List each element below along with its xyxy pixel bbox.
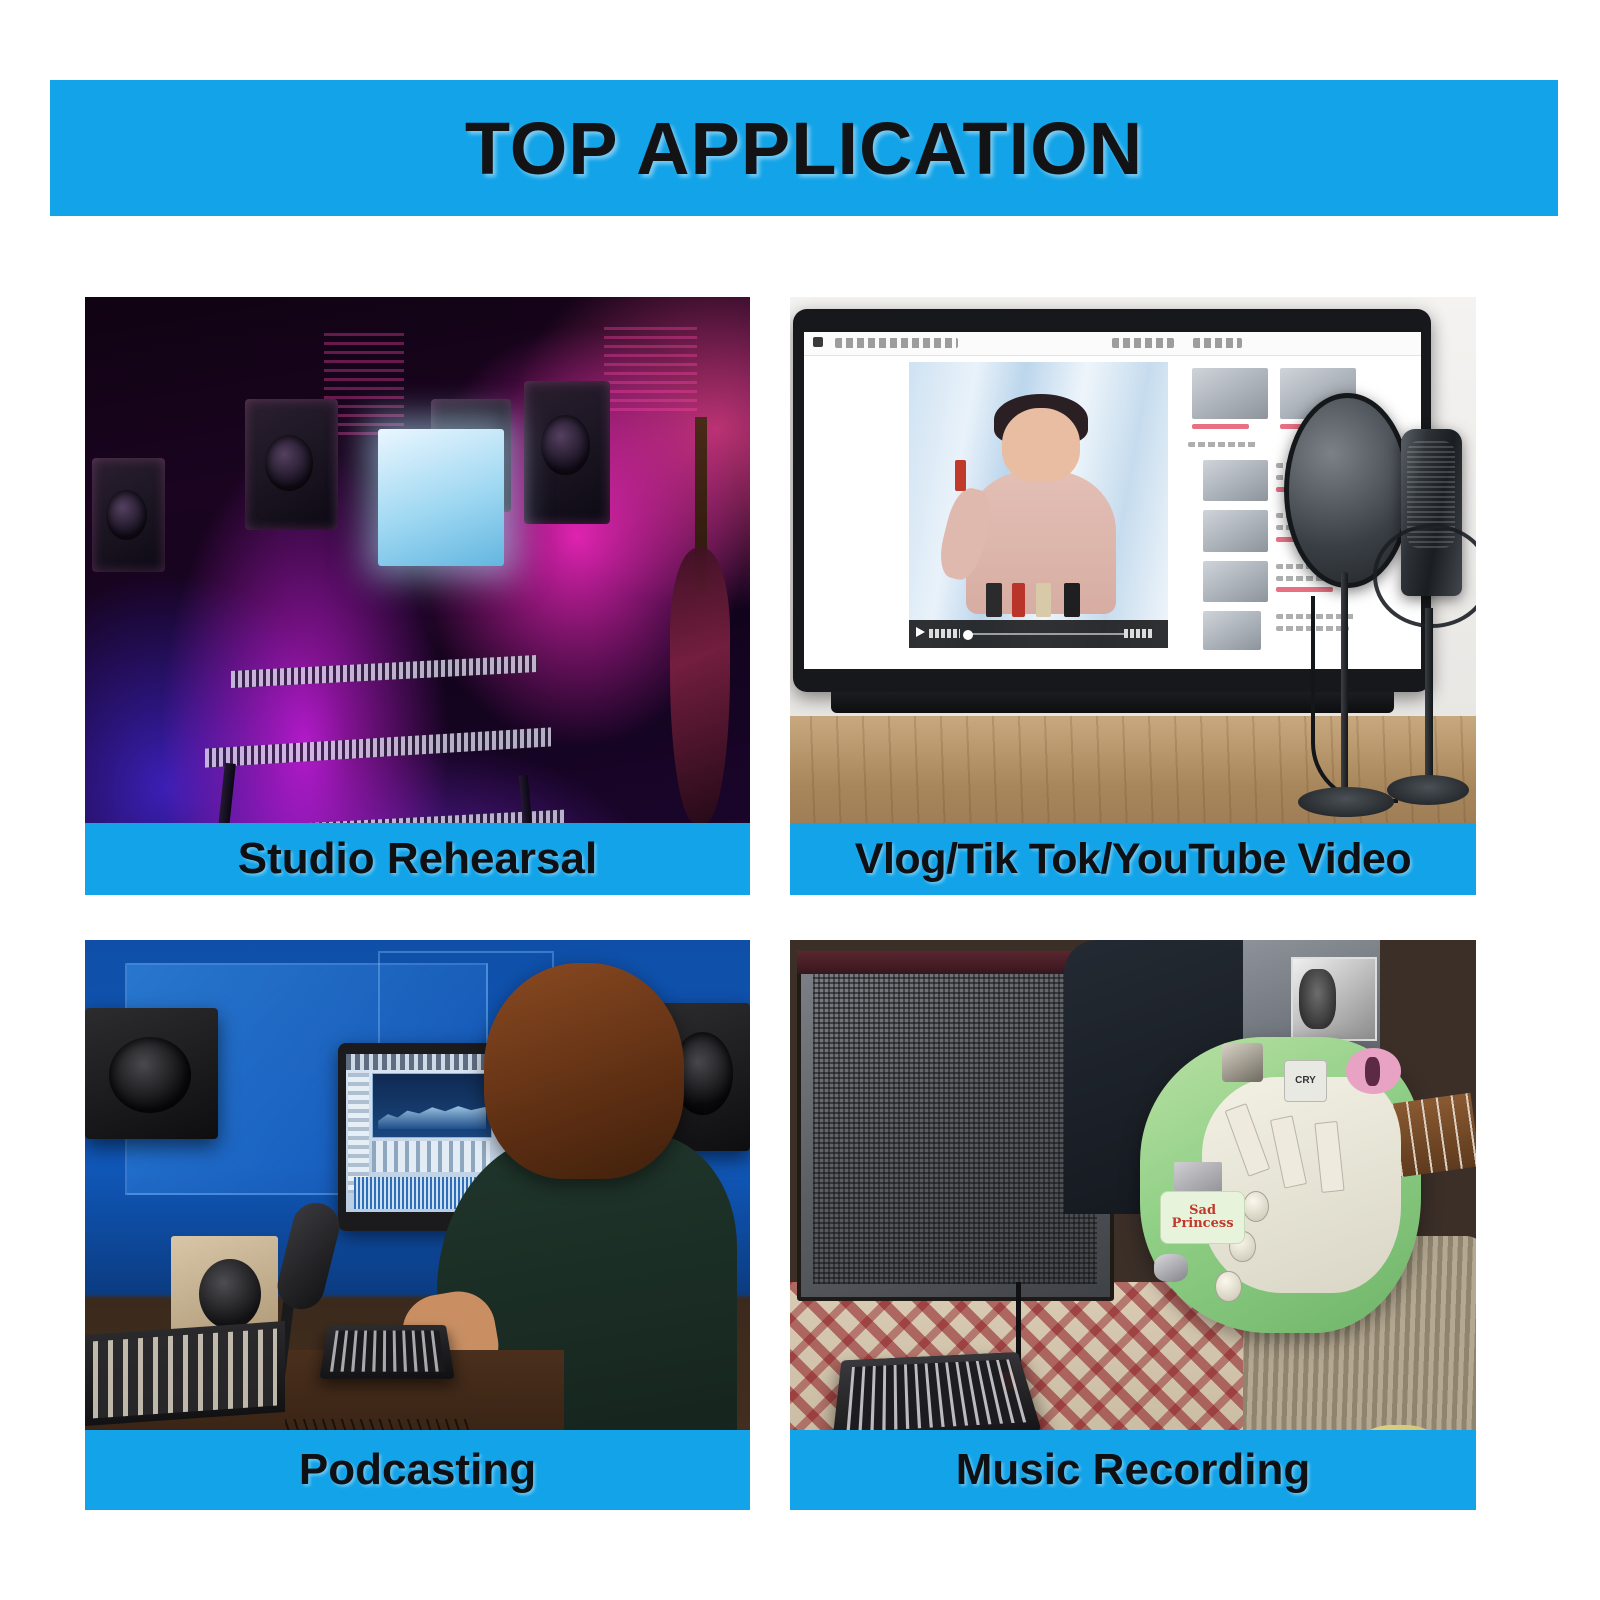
product-thumbnail[interactable] <box>1203 510 1268 551</box>
caption-label: Music Recording <box>956 1445 1311 1495</box>
music-recording-scene: CRY Sad Princess <box>790 940 1476 1510</box>
video-player[interactable] <box>909 362 1168 648</box>
guitar-icon <box>670 548 730 823</box>
daw-mixer-strips <box>372 1141 490 1173</box>
browser-nav-text <box>1193 338 1242 348</box>
studio-speaker-icon <box>245 399 338 531</box>
lipstick-icon <box>955 460 965 491</box>
product-thumbnail[interactable] <box>1203 561 1268 602</box>
section-heading <box>1188 442 1257 447</box>
daw-track-list <box>348 1073 369 1193</box>
pop-filter-base <box>1298 787 1394 817</box>
browser-logo-icon <box>813 337 823 347</box>
photo-podcasting <box>85 940 750 1510</box>
product-thumbnail[interactable] <box>1192 368 1269 418</box>
caption-label: Vlog/Tik Tok/YouTube Video <box>855 835 1411 884</box>
product-price <box>1276 587 1333 592</box>
caption-label: Studio Rehearsal <box>238 834 597 884</box>
microphone-stand <box>1425 608 1433 787</box>
studio-monitor-screen-icon <box>378 429 504 567</box>
person-hair <box>484 963 684 1180</box>
cosmetic-bottle-icon <box>1036 583 1052 617</box>
application-poster: TOP APPLICATION <box>0 0 1600 1600</box>
progress-handle[interactable] <box>963 630 973 640</box>
caption-bar-vlog-video: Vlog/Tik Tok/YouTube Video <box>790 823 1476 895</box>
product-thumbnail[interactable] <box>1203 460 1268 501</box>
daw-spectrum-window <box>372 1073 492 1138</box>
application-grid: Studio Rehearsal <box>0 0 1600 1600</box>
photo-music-recording: CRY Sad Princess <box>790 940 1476 1510</box>
panel-podcasting: Podcasting <box>85 940 750 1510</box>
cable-icon <box>1311 596 1397 803</box>
video-controls-bar[interactable] <box>909 620 1168 649</box>
monitor-base <box>831 692 1394 713</box>
acoustic-panel-icon <box>604 327 697 411</box>
studio-scene <box>85 297 750 895</box>
caption-bar-music-recording: Music Recording <box>790 1430 1476 1510</box>
caption-bar-podcasting: Podcasting <box>85 1430 750 1510</box>
synth-keyboard-icon <box>231 636 537 694</box>
progress-bar[interactable] <box>966 633 1127 635</box>
synth-keyboard-icon <box>205 705 551 774</box>
studio-speaker-icon <box>85 1008 218 1139</box>
photo-studio-rehearsal <box>85 297 750 895</box>
guitar-sticker-photo <box>1222 1043 1263 1083</box>
guitar-knob-icon <box>1215 1271 1242 1303</box>
panel-studio-rehearsal: Studio Rehearsal <box>85 297 750 895</box>
guitar-sticker-figure <box>1346 1048 1401 1094</box>
broadcast-microphone-icon <box>272 1198 343 1314</box>
caption-label: Podcasting <box>299 1445 536 1495</box>
browser-toolbar <box>804 332 1422 357</box>
guitar-sticker-cry: CRY <box>1284 1060 1327 1102</box>
browser-nav-text <box>835 338 959 348</box>
play-icon[interactable] <box>916 627 925 637</box>
pop-filter-stand <box>1341 572 1349 799</box>
guitar-sticker-sad-princess: Sad Princess <box>1160 1191 1244 1244</box>
cosmetic-bottle-icon <box>1012 583 1025 617</box>
duration-label <box>1124 629 1153 638</box>
browser-nav-text <box>1112 338 1174 348</box>
caption-bar-studio-rehearsal: Studio Rehearsal <box>85 823 750 895</box>
panel-vlog-video: Vlog/Tik Tok/YouTube Video <box>790 297 1476 895</box>
product-thumbnail[interactable] <box>1203 611 1260 650</box>
spectrum-curve <box>378 1101 486 1129</box>
mixer-power-indicator <box>1000 1372 1017 1389</box>
control-surface-icon <box>85 1321 285 1426</box>
wall-photo-icon <box>1291 957 1377 1041</box>
audio-mixer-icon <box>320 1325 456 1379</box>
presenter-face <box>1002 408 1080 482</box>
panel-music-recording: CRY Sad Princess Music Recording <box>790 940 1476 1510</box>
amplifier-top-panel <box>797 951 1106 974</box>
current-time-label <box>929 629 960 638</box>
podcasting-scene <box>85 940 750 1510</box>
cosmetic-bottle-icon <box>986 583 1002 617</box>
studio-speaker-icon <box>92 458 165 572</box>
photo-vlog-video <box>790 297 1476 895</box>
guitar-jack-icon <box>1154 1254 1188 1283</box>
cosmetic-bottle-icon <box>1064 583 1080 617</box>
vlog-scene <box>790 297 1476 895</box>
product-price <box>1192 424 1249 429</box>
studio-speaker-icon <box>524 381 610 525</box>
